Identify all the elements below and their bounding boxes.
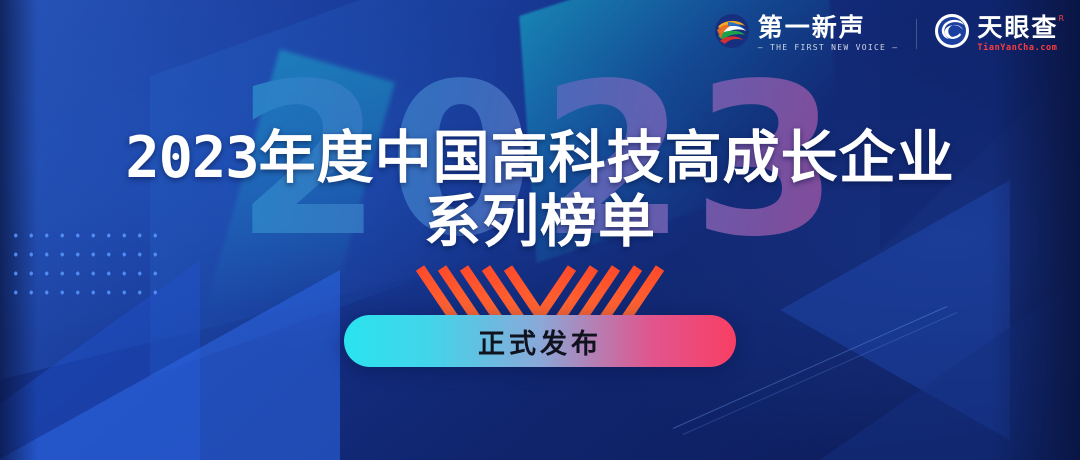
logo-diyixinsheng-cn: 第一新声	[758, 15, 899, 40]
ribbon-globe-icon	[714, 13, 750, 54]
logo-tianyancha-cn: 天眼查	[977, 15, 1058, 40]
release-cta-label: 正式发布	[478, 322, 602, 361]
logo-tianyancha-domain: TianYanCha.com	[977, 44, 1064, 53]
logo-bar: 第一新声 — THE FIRST NEW VOICE — 天眼查	[714, 13, 1064, 54]
headline-block: 2023年度中国高科技高成长企业 系列榜单	[0, 126, 1080, 254]
logo-divider	[916, 19, 917, 49]
headline-year: 2023	[125, 125, 258, 191]
logo-diyixinsheng-tagline: — THE FIRST NEW VOICE —	[758, 44, 899, 52]
logo-tianyancha-text: 天眼查 R TianYanCha.com	[977, 15, 1064, 53]
promo-banner: 2023 2023年度中国高科技高成长企业 系列榜单 正式发布	[0, 0, 1080, 460]
logo-diyixinsheng-text: 第一新声 — THE FIRST NEW VOICE —	[758, 15, 899, 52]
headline-line-1-text: 年度中国高科技高成长企业	[259, 125, 955, 191]
headline-line-2: 系列榜单	[0, 190, 1080, 254]
logo-diyixinsheng[interactable]: 第一新声 — THE FIRST NEW VOICE —	[714, 13, 899, 54]
release-cta-button[interactable]: 正式发布	[344, 315, 736, 367]
logo-tianyancha-cn-wrap: 天眼查 R	[977, 15, 1064, 40]
registered-trademark-icon: R	[1058, 15, 1064, 23]
logo-tianyancha[interactable]: 天眼查 R TianYanCha.com	[935, 14, 1064, 53]
eye-lens-icon	[935, 14, 969, 53]
headline-line-1: 2023年度中国高科技高成长企业	[0, 126, 1080, 190]
